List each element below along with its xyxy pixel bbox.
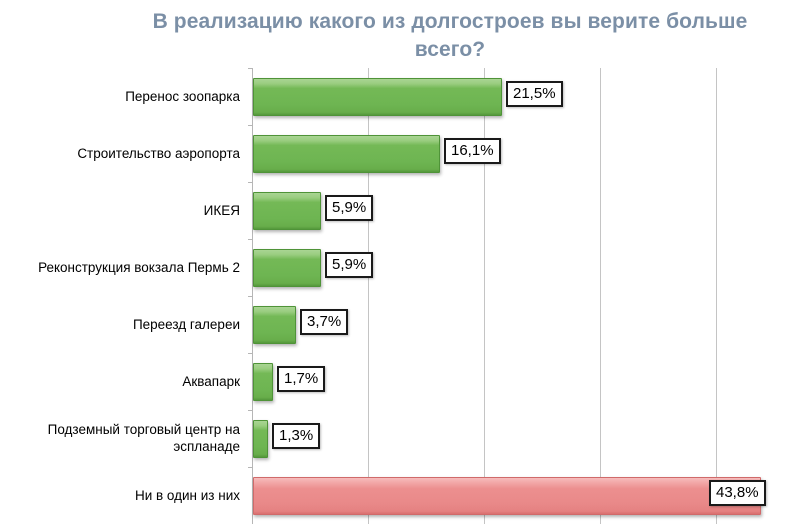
category-label-4: Переезд галереи: [0, 316, 246, 333]
axis-tick-7: [248, 467, 253, 468]
bar-0[interactable]: [253, 78, 502, 116]
data-label-6: 1,3%: [272, 423, 320, 449]
bar-6[interactable]: [253, 420, 268, 458]
gridline-30: [600, 68, 601, 524]
chart-title: В реализацию какого из долгостроев вы ве…: [120, 8, 780, 64]
category-axis: Перенос зоопарка Строительство аэропорта…: [0, 68, 246, 524]
axis-tick-1: [248, 125, 253, 126]
data-label-4: 3,7%: [300, 309, 348, 335]
axis-tick-6: [248, 410, 253, 411]
bar-7[interactable]: [253, 477, 761, 515]
category-label-1: Строительство аэропорта: [0, 145, 246, 162]
bar-2[interactable]: [253, 192, 321, 230]
data-label-5: 1,7%: [277, 366, 325, 392]
category-label-3: Реконструкция вокзала Пермь 2: [0, 259, 246, 276]
data-label-1: 16,1%: [444, 138, 501, 164]
data-label-2: 5,9%: [325, 195, 373, 221]
bar-3[interactable]: [253, 249, 321, 287]
bar-4[interactable]: [253, 306, 296, 344]
data-label-3: 5,9%: [325, 252, 373, 278]
gridline-40: [716, 68, 717, 524]
category-label-5: Аквапарк: [0, 373, 246, 390]
bar-5[interactable]: [253, 363, 273, 401]
category-label-0: Перенос зоопарка: [0, 88, 246, 105]
bar-1[interactable]: [253, 135, 440, 173]
axis-tick-5: [248, 353, 253, 354]
axis-tick-2: [248, 182, 253, 183]
gridline-20: [484, 68, 485, 524]
category-label-6: Подземный торговый центр на эспланаде: [0, 421, 246, 455]
axis-tick-3: [248, 239, 253, 240]
axis-tick-4: [248, 296, 253, 297]
data-label-7: 43,8%: [709, 480, 766, 506]
bar-chart: В реализацию какого из долгостроев вы ве…: [0, 0, 800, 524]
category-label-2: ИКЕЯ: [0, 202, 246, 219]
axis-tick-0: [248, 68, 253, 69]
plot-area: 21,5% 16,1% 5,9% 5,9% 3,7% 1,7% 1,3% 43,…: [252, 68, 800, 524]
data-label-0: 21,5%: [506, 81, 563, 107]
category-label-7: Ни в один из них: [0, 487, 246, 504]
